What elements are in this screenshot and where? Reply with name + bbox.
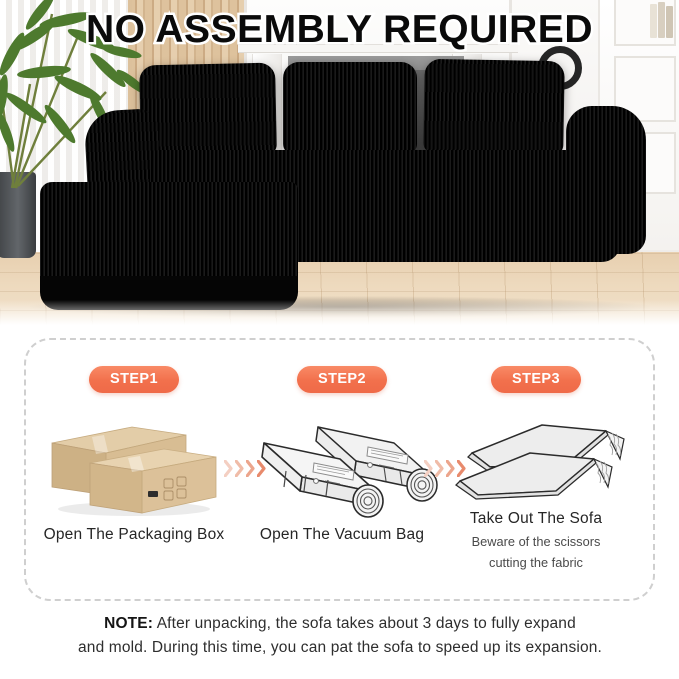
hero-product-photo: NO ASSEMBLY REQUIRED bbox=[0, 0, 679, 330]
step-3: STEP3 bbox=[438, 340, 634, 603]
photo-bottom-fade bbox=[0, 300, 679, 330]
step-2-illustration bbox=[244, 409, 440, 521]
cardboard-boxes-icon bbox=[36, 409, 232, 521]
step-3-illustration bbox=[438, 409, 634, 521]
step-2: STEP2 bbox=[244, 340, 440, 603]
note-line-2: and mold. During this time, you can pat … bbox=[40, 636, 640, 660]
back-cushion-left bbox=[139, 63, 277, 158]
step-2-badge: STEP2 bbox=[297, 366, 387, 393]
steps-panel: STEP1 bbox=[24, 338, 655, 601]
step-1: STEP1 bbox=[36, 340, 232, 603]
note-first-line: NOTE: After unpacking, the sofa takes ab… bbox=[40, 612, 640, 636]
chevron-right-arrows-icon bbox=[424, 460, 433, 477]
step-3-badge: STEP3 bbox=[491, 366, 581, 393]
step-1-illustration bbox=[36, 409, 232, 521]
step-2-caption: Open The Vacuum Bag bbox=[244, 525, 440, 546]
chevron-right-arrows-icon bbox=[224, 460, 233, 477]
back-cushion-right bbox=[423, 59, 565, 155]
folded-vacuum-bags-icon bbox=[438, 409, 634, 521]
rolled-vacuum-bags-icon bbox=[244, 409, 440, 521]
chevron-right-arrows-icon bbox=[235, 460, 244, 477]
note-line-1: After unpacking, the sofa takes about 3 … bbox=[153, 615, 576, 632]
step-1-caption: Open The Packaging Box bbox=[36, 525, 232, 546]
step-3-subcaption-line-2: cutting the fabric bbox=[438, 554, 634, 572]
hero-headline: NO ASSEMBLY REQUIRED bbox=[0, 8, 679, 52]
step-1-badge: STEP1 bbox=[89, 366, 179, 393]
back-cushion-center bbox=[283, 62, 417, 154]
note-text: NOTE: After unpacking, the sofa takes ab… bbox=[40, 612, 640, 659]
step-3-subcaption-line-1: Beware of the scissors bbox=[438, 533, 634, 551]
note-label: NOTE: bbox=[104, 615, 153, 632]
